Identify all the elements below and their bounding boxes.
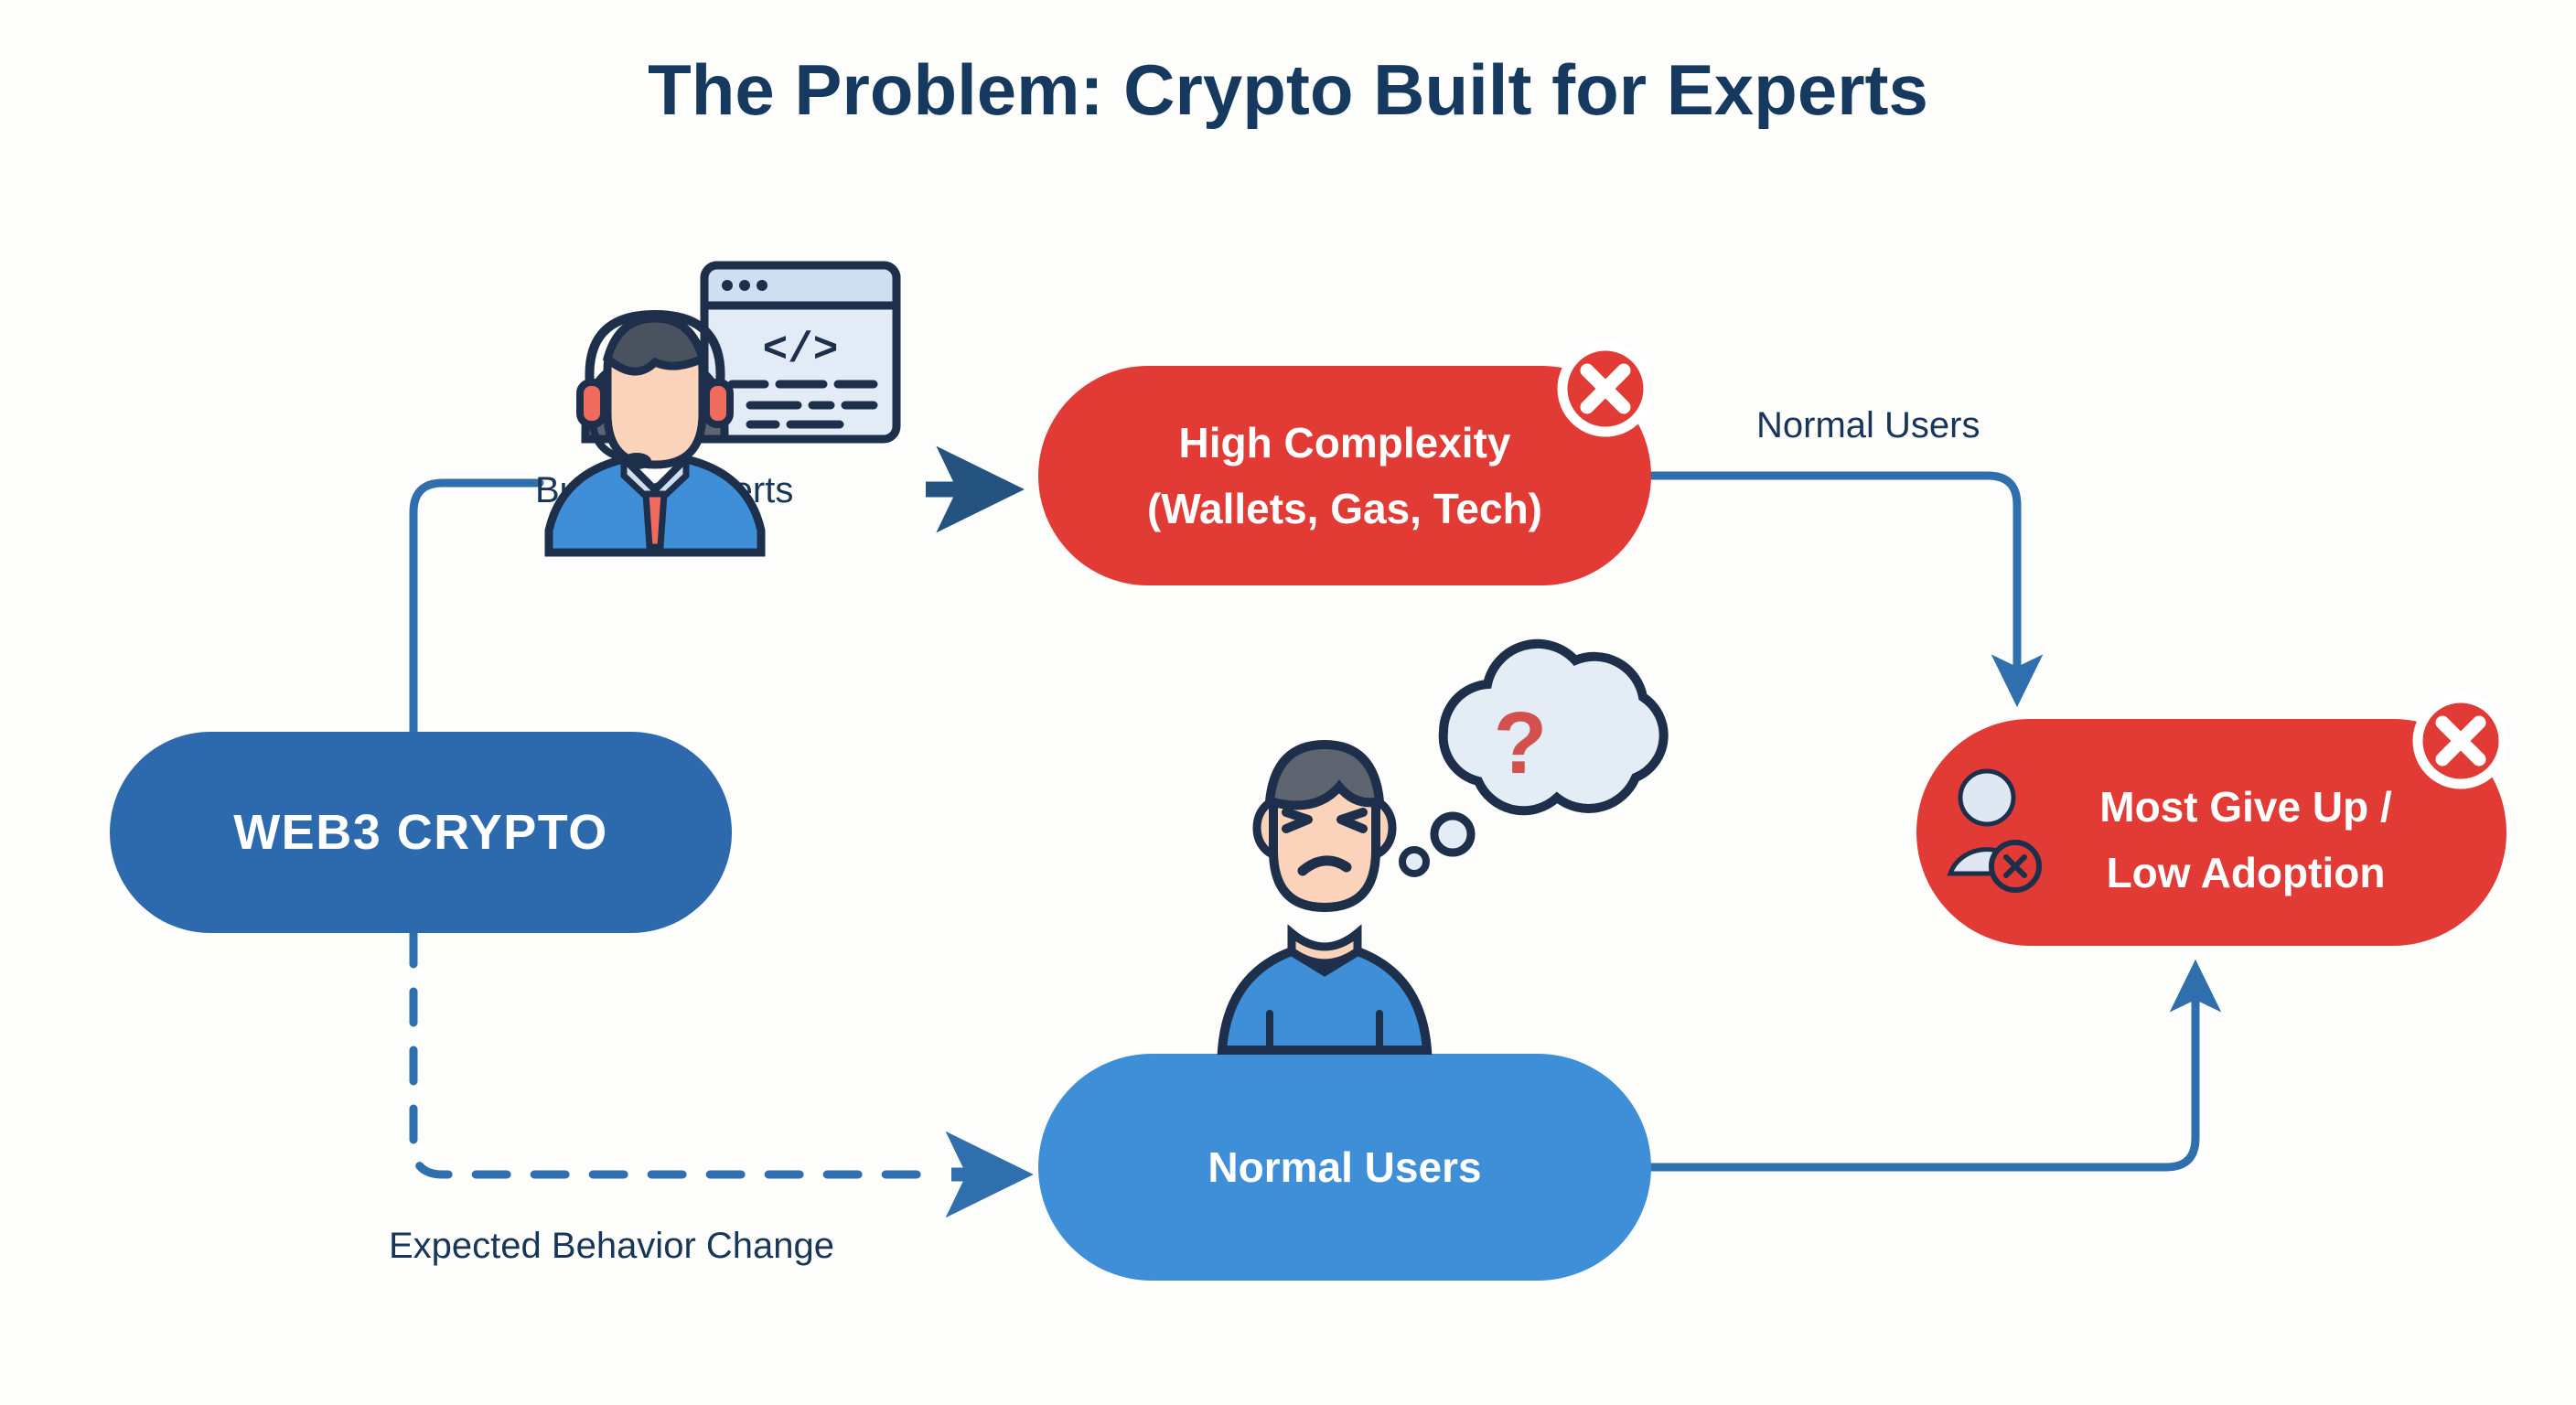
connector-complexity-to-giveup [1651,476,2017,695]
node-normal-users[interactable]: Normal Users [1038,1054,1651,1281]
expert-developer-icon: </> [549,265,896,552]
connector-web3-to-normal-users [413,933,924,1174]
node-web3-crypto[interactable]: WEB3 CRYPTO [110,732,732,933]
code-glyph: </> [763,327,839,374]
confused-user-icon: ? [1222,644,1664,1050]
thought-question-glyph: ? [1494,694,1548,792]
diagram-canvas: The Problem: Crypto Built for Experts WE… [0,0,2576,1405]
connector-normalusers-to-giveup [1651,971,2195,1167]
connector-web3-to-experts [413,483,540,732]
edge-label-expected-behavior-change: Expected Behavior Change [389,1226,834,1266]
node-web3-crypto-label: WEB3 CRYPTO [233,805,608,860]
node-high-complexity[interactable]: High Complexity (Wallets, Gas, Tech) [1038,346,1651,585]
x-badge-icon [1562,346,1648,432]
node-high-complexity-label-line1: High Complexity [1179,419,1511,467]
node-most-give-up-label-line2: Low Adoption [2107,849,2386,896]
node-most-give-up[interactable]: Most Give Up / Low Adoption [1916,698,2506,946]
node-high-complexity-label-line2: (Wallets, Gas, Tech) [1147,485,1542,532]
edge-label-normal-users: Normal Users [1756,405,1980,445]
x-badge-icon [2418,698,2504,784]
node-normal-users-label: Normal Users [1207,1143,1481,1191]
page-title: The Problem: Crypto Built for Experts [648,49,1928,130]
node-most-give-up-label-line1: Most Give Up / [2099,783,2392,831]
